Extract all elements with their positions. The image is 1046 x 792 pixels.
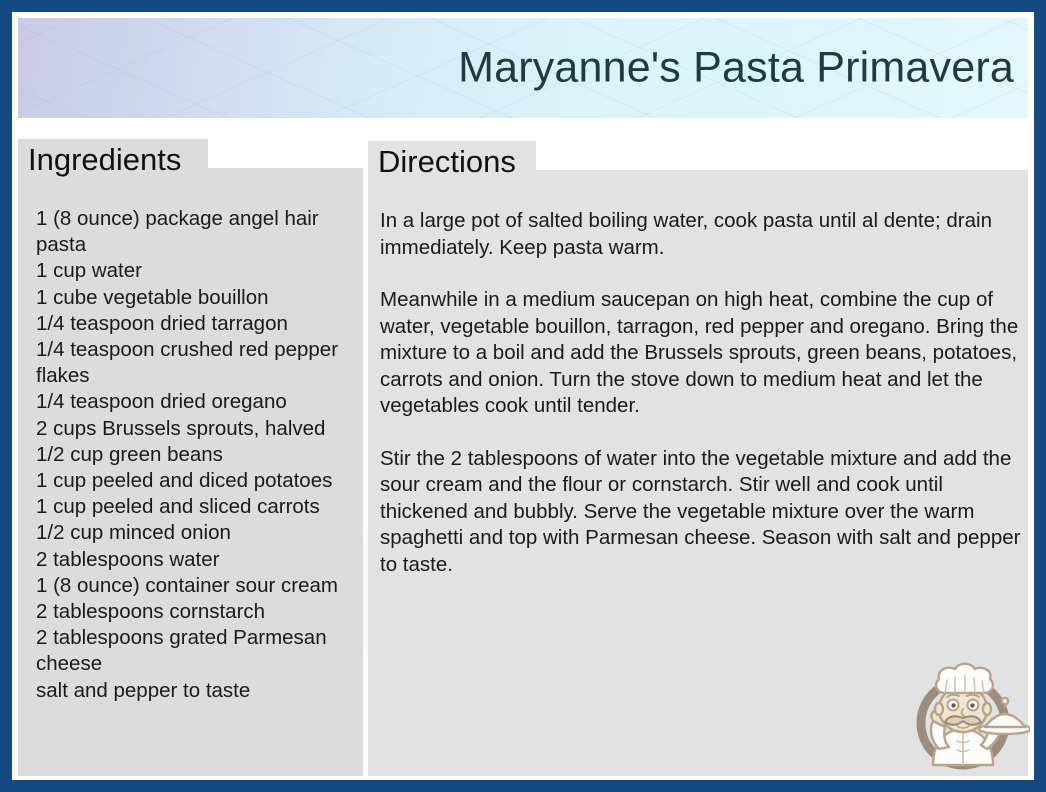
recipe-card: Maryanne's Pasta Primavera Ingredients 1… — [0, 0, 1046, 792]
directions-paragraph: Stir the 2 tablespoons of water into the… — [380, 446, 1028, 579]
ingredients-list: 1 (8 ounce) package angel hair pasta 1 c… — [36, 206, 362, 704]
list-item: 1/4 teaspoon dried oregano — [36, 389, 362, 415]
list-item: 1/4 teaspoon crushed red pepper flakes — [36, 337, 362, 389]
list-item: 2 tablespoons grated Parmesan cheese — [36, 625, 362, 677]
ingredients-heading: Ingredients — [28, 144, 181, 175]
directions-paragraph: Meanwhile in a medium saucepan on high h… — [380, 287, 1028, 420]
list-item: 1 (8 ounce) package angel hair pasta — [36, 206, 362, 258]
directions-heading: Directions — [378, 146, 516, 177]
list-item: 2 tablespoons water — [36, 547, 362, 573]
ingredients-header-tab: Ingredients — [18, 139, 208, 180]
list-item: 1 (8 ounce) container sour cream — [36, 573, 362, 599]
list-item: salt and pepper to taste — [36, 678, 362, 704]
list-item: 1/4 teaspoon dried tarragon — [36, 311, 362, 337]
directions-header-tab: Directions — [368, 141, 536, 182]
list-item: 1 cup water — [36, 258, 362, 284]
list-item: 1 cup peeled and sliced carrots — [36, 494, 362, 520]
list-item: 2 tablespoons cornstarch — [36, 599, 362, 625]
directions-paragraph: In a large pot of salted boiling water, … — [380, 208, 1028, 261]
list-item: 1/2 cup minced onion — [36, 520, 362, 546]
recipe-card-inner: Maryanne's Pasta Primavera Ingredients 1… — [12, 12, 1034, 780]
page-title: Maryanne's Pasta Primavera — [458, 44, 1014, 93]
directions-text: In a large pot of salted boiling water, … — [380, 208, 1028, 578]
list-item: 1 cup peeled and diced potatoes — [36, 468, 362, 494]
chef-mascot-logo — [905, 657, 1030, 779]
title-banner: Maryanne's Pasta Primavera — [18, 18, 1028, 118]
list-item: 1/2 cup green beans — [36, 442, 362, 468]
list-item: 1 cube vegetable bouillon — [36, 285, 362, 311]
list-item: 2 cups Brussels sprouts, halved — [36, 416, 362, 442]
